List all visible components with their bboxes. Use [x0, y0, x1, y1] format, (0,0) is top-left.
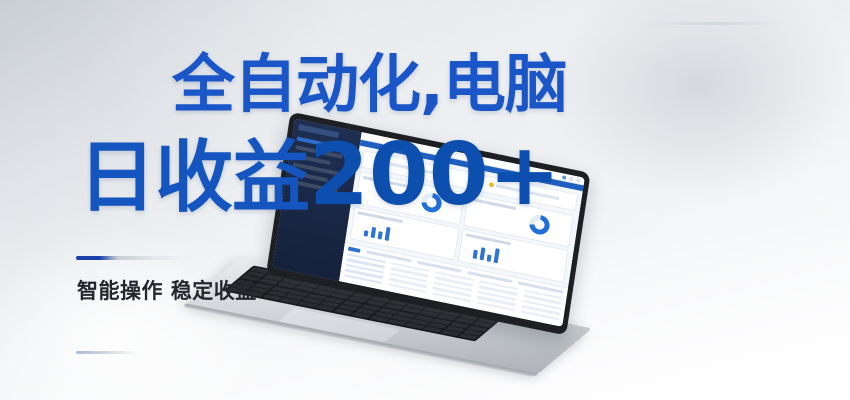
star-icon	[489, 182, 495, 188]
table-title-chip	[348, 246, 361, 252]
star-icon	[380, 160, 386, 166]
dashboard-logo	[298, 124, 339, 138]
toolbar-notification-icon[interactable]	[562, 175, 567, 180]
card-title	[471, 198, 516, 210]
promo-banner: 全自动化,电脑 日收益200+ 智能操作 稳定收益	[0, 0, 850, 400]
bar-chart	[472, 242, 499, 262]
subtitle-divider	[76, 256, 192, 260]
sidebar-item-account[interactable]	[290, 180, 338, 194]
donut-chart	[420, 190, 443, 213]
decorative-accent-line	[640, 22, 790, 25]
card-title	[466, 233, 511, 245]
bottom-accent-rule	[76, 351, 138, 354]
laptop-mockup	[258, 104, 618, 354]
card-title	[363, 175, 408, 187]
toolbar-gear-icon[interactable]	[569, 176, 574, 181]
toolbar-avatar[interactable]	[576, 178, 581, 183]
donut-chart	[528, 213, 551, 236]
bar-chart	[364, 220, 391, 240]
card-title	[357, 211, 402, 223]
subtitle: 智能操作 稳定收益	[77, 275, 257, 305]
